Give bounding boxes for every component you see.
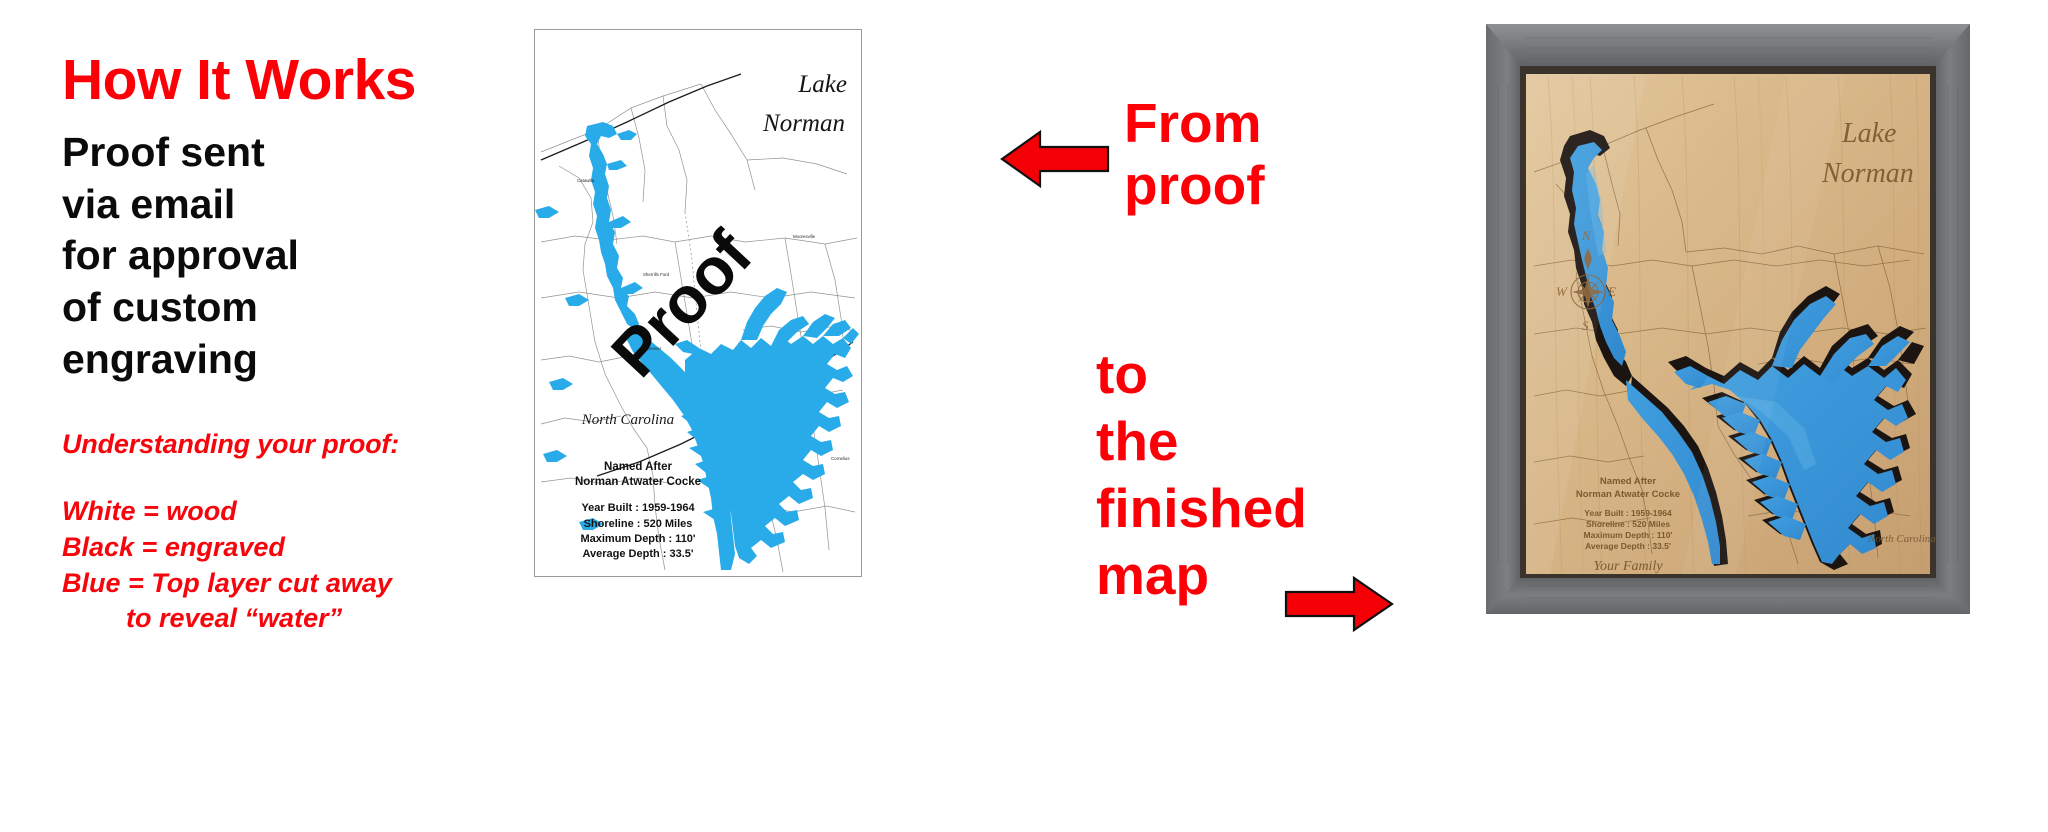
finished-named-after-label: Named After: [1600, 476, 1656, 487]
finished-stat-year-built: Year Built : 1959-1964: [1584, 508, 1672, 518]
finished-lake-title-line2: Norman: [1821, 158, 1914, 189]
finished-state-label: North Carolina: [1867, 533, 1936, 545]
callout-from-line2: proof: [1124, 155, 1265, 217]
svg-text:Catawba: Catawba: [577, 178, 595, 183]
finished-script-line-1: Your Family: [1593, 559, 1663, 574]
process-line-5: engraving: [62, 334, 532, 386]
stat-max-depth: Maximum Depth : 110': [543, 532, 733, 547]
script-line-1: Your Family: [543, 574, 733, 577]
legend-item-white: White = wood: [62, 494, 532, 530]
callout-from-line1: From: [1124, 93, 1265, 155]
callout-to-line4: map: [1096, 542, 1307, 609]
finished-framed-map: Lake Norman North Carolina N: [1486, 24, 1970, 614]
finished-compass-label-e: E: [1607, 284, 1616, 299]
proof-lake-stats: Year Built : 1959-1964 Shoreline : 520 M…: [543, 501, 733, 562]
legend-item-blue-cont: to reveal “water”: [62, 601, 532, 637]
proof-map-panel: Catawba Sherrills Ford Denver Cornelius …: [534, 29, 862, 577]
finished-stat-shoreline: Shoreline : 520 Miles: [1586, 519, 1670, 529]
left-text-column: How It Works Proof sent via email for ap…: [62, 52, 532, 637]
proof-state-label: North Carolina: [553, 412, 703, 429]
callout-to-finished-map: to the finished map: [1096, 341, 1307, 609]
stat-avg-depth: Average Depth : 33.5': [543, 547, 733, 562]
finished-stat-avg-depth: Average Depth : 33.5': [1585, 541, 1671, 551]
named-after-person: Norman Atwater Cocke: [543, 475, 733, 490]
how-it-works-infographic: How It Works Proof sent via email for ap…: [0, 0, 2048, 832]
legend-item-blue: Blue = Top layer cut away: [62, 566, 532, 602]
legend-item-black: Black = engraved: [62, 530, 532, 566]
finished-lake-title-line1: Lake: [1841, 118, 1896, 149]
callout-to-line1: to: [1096, 341, 1307, 408]
svg-text:Mooresville: Mooresville: [793, 234, 816, 239]
process-line-3: for approval: [62, 230, 532, 282]
proof-custom-script: Your Family Name Lake House: [543, 574, 733, 577]
process-line-1: Proof sent: [62, 127, 532, 179]
process-description: Proof sent via email for approval of cus…: [62, 127, 532, 385]
callout-to-line3: finished: [1096, 475, 1307, 542]
page-title: How It Works: [62, 52, 532, 109]
finished-named-after-person: Norman Atwater Cocke: [1576, 489, 1680, 500]
arrow-left-icon: [1000, 128, 1110, 190]
finished-stat-max-depth: Maximum Depth : 110': [1584, 530, 1673, 540]
callout-to-line2: the: [1096, 408, 1307, 475]
stat-year-built: Year Built : 1959-1964: [543, 501, 733, 516]
arrow-right-icon: [1284, 575, 1394, 633]
color-legend: White = wood Black = engraved Blue = Top…: [62, 494, 532, 637]
process-line-2: via email: [62, 179, 532, 231]
stat-shoreline: Shoreline : 520 Miles: [543, 517, 733, 532]
process-line-4: of custom: [62, 282, 532, 334]
named-after-label: Named After: [543, 460, 733, 475]
svg-text:Cornelius: Cornelius: [831, 456, 850, 461]
callout-from-proof: From proof: [1124, 93, 1265, 216]
legend-heading: Understanding your proof:: [62, 429, 532, 460]
proof-info-block: Named After Norman Atwater Cocke Year Bu…: [543, 460, 733, 577]
proof-named-after: Named After Norman Atwater Cocke: [543, 460, 733, 490]
